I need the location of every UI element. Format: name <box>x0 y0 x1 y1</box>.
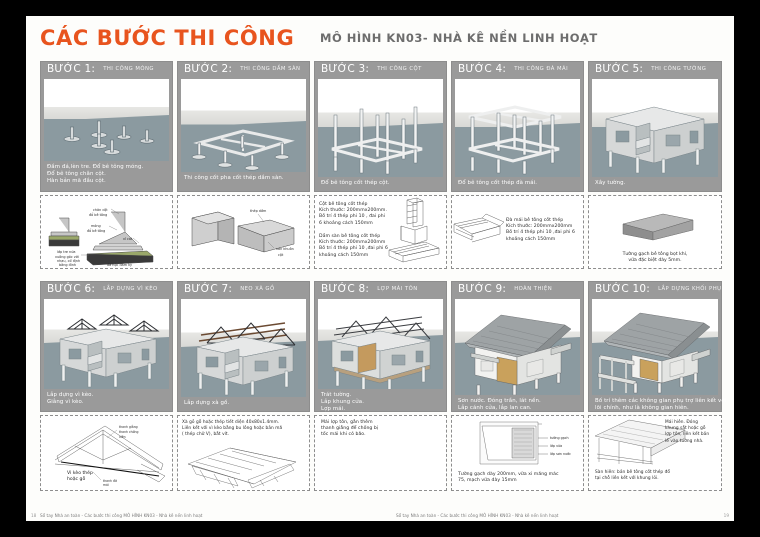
step-9-title: HOÀN THIỆN <box>514 282 552 296</box>
svg-text:chân cột: chân cột <box>93 208 108 212</box>
step-1-illustration <box>44 79 169 161</box>
step-8-caption: Trát tường. Lắp khung cửa. Lợp mái. <box>318 389 443 416</box>
step-5-illustration <box>592 79 718 177</box>
step-7-header: BƯỚC 7: NEO XÀ GỒ <box>177 281 310 296</box>
svg-text:thanh chống: thanh chống <box>119 430 138 434</box>
step-9-detail: tường gạch lớp vữa lớp sơn nước Tường gạ… <box>451 415 584 491</box>
step-panel-4[interactable]: BƯỚC 4: THI CÔNG ĐÀ MÁI <box>451 61 584 274</box>
svg-text:cột: cột <box>278 253 284 257</box>
svg-text:xiên: xiên <box>119 435 126 439</box>
footer-left: Sổ tay Nhà an toàn - Các bước thi công M… <box>40 513 202 518</box>
step-6-number: BƯỚC 6: <box>47 282 95 296</box>
step-9-caption: Sơn nước. Đóng trần, lát nền. Lắp cánh c… <box>455 395 580 414</box>
svg-text:bằng đinh: bằng đinh <box>59 262 76 267</box>
step-9-number: BƯỚC 9: <box>458 282 506 296</box>
step-panel-1[interactable]: BƯỚC 1: THI CÔNG MÓNG <box>40 61 173 274</box>
step-1-number: BƯỚC 1: <box>47 62 95 76</box>
step-5-detail: Tường gạch bê tông bọt khí, vữa đặc biệt… <box>588 195 722 269</box>
step-10-header: BƯỚC 10: LẮP DỰNG KHỐI PHỤ <box>588 281 722 296</box>
page-subtitle: MÔ HÌNH KN03- NHÀ KÊ NỀN LINH HOẠT <box>320 31 598 45</box>
step-7-caption: Lắp dựng xà gồ. <box>181 397 306 409</box>
step-4-caption: Đổ bê tông cốt thép đà mái. <box>455 177 580 189</box>
step-8-header: BƯỚC 8: LỢP MÁI TÔN <box>314 281 447 296</box>
step-10-detail-caption-b: Sàn hiên: bản bê tông cốt thép đổ tại ch… <box>595 470 670 482</box>
step-panel-7[interactable]: BƯỚC 7: NEO XÀ GỒ <box>177 281 310 503</box>
step-2-body: Thi công cốt pha cốt thép dầm sàn. <box>177 76 310 192</box>
step-6-caption: Lắp dựng vì kèo. Giằng vì kèo. <box>44 389 169 408</box>
svg-text:đá hộc đầm kỹ: đá hộc đầm kỹ <box>107 263 132 267</box>
step-9-header: BƯỚC 9: HOÀN THIỆN <box>451 281 584 296</box>
step-2-caption: Thi công cốt pha cốt thép dầm sàn. <box>181 172 306 184</box>
svg-text:ván khuôn: ván khuôn <box>276 247 294 251</box>
step-3-number: BƯỚC 3: <box>321 62 369 76</box>
step-6-detail-label-1: Vì kèo thép <box>67 469 93 476</box>
step-panel-6[interactable]: BƯỚC 6: LẮP DỰNG VÌ KÈO <box>40 281 173 503</box>
step-6-header: BƯỚC 6: LẮP DỰNG VÌ KÈO <box>40 281 173 296</box>
step-7-detail: Xà gồ gỗ hoặc thép tiết diện 40x80x1.4mm… <box>177 415 310 491</box>
step-8-detail: Mái lợp tôn, gắn thêm thanh giằng để chố… <box>314 415 447 491</box>
step-1-detail: chân cột đổ bê tông móng đổ bê tông vỉ c… <box>40 195 173 269</box>
step-4-illustration <box>455 79 580 177</box>
step-2-illustration <box>181 79 306 172</box>
step-6-title: LẮP DỰNG VÌ KÈO <box>103 282 157 296</box>
footer-right: Sổ tay Nhà an toàn - Các bước thi công M… <box>396 513 558 518</box>
svg-text:móng: móng <box>91 224 101 228</box>
step-7-body: Lắp dựng xà gồ. <box>177 296 310 412</box>
page-number-left: 18 <box>31 513 36 518</box>
step-1-caption: Đầm đá,lèn tre. Đổ bê tông móng. Đổ bê t… <box>44 161 169 188</box>
step-4-body: Đổ bê tông cốt thép đà mái. <box>451 76 584 192</box>
step-4-header: BƯỚC 4: THI CÔNG ĐÀ MÁI <box>451 61 584 76</box>
step-5-number: BƯỚC 5: <box>595 62 643 76</box>
step-1-body: Đầm đá,lèn tre. Đổ bê tông móng. Đổ bê t… <box>40 76 173 192</box>
step-1-header: BƯỚC 1: THI CÔNG MÓNG <box>40 61 173 76</box>
svg-text:tường gạch: tường gạch <box>550 436 569 440</box>
svg-text:thép dầm: thép dầm <box>250 209 267 213</box>
step-7-number: BƯỚC 7: <box>184 282 232 296</box>
svg-text:thanh giằng: thanh giằng <box>119 424 138 429</box>
step-3-illustration <box>318 79 443 177</box>
page-number-right: 19 <box>724 513 729 518</box>
step-6-illustration <box>44 299 169 389</box>
step-8-title: LỢP MÁI TÔN <box>377 282 417 296</box>
step-panel-5[interactable]: BƯỚC 5: THI CÔNG TƯỜNG <box>588 61 722 274</box>
svg-text:mái: mái <box>103 483 109 487</box>
page-background: CÁC BƯỚC THI CÔNG MÔ HÌNH KN03- NHÀ KÊ N… <box>0 0 760 537</box>
step-7-detail-text: Xà gồ gỗ hoặc thép tiết diện 40x80x1.4mm… <box>182 420 282 439</box>
page-title: CÁC BƯỚC THI CÔNG <box>40 26 294 50</box>
svg-text:vỉ cát: vỉ cát <box>123 237 133 241</box>
svg-text:lớp sơn nước: lớp sơn nước <box>550 452 571 456</box>
step-10-detail-caption-a: Mái hiên. Đóng khung sắt hoặc gỗ lợp tôn… <box>665 420 709 445</box>
svg-text:lớp vữa: lớp vữa <box>550 444 562 448</box>
step-5-header: BƯỚC 5: THI CÔNG TƯỜNG <box>588 61 722 76</box>
step-5-caption: Xây tường. <box>592 177 718 189</box>
step-2-header: BƯỚC 2: THI CÔNG DẦM SÀN <box>177 61 310 76</box>
step-9-body: Sơn nước. Đóng trần, lát nền. Lắp cánh c… <box>451 296 584 412</box>
step-1-title: THI CÔNG MÓNG <box>103 62 154 76</box>
step-10-caption: Bố trí thêm các không gian phụ trợ liên … <box>592 395 718 414</box>
step-8-number: BƯỚC 8: <box>321 282 369 296</box>
step-4-number: BƯỚC 4: <box>458 62 506 76</box>
steps-row-top: BƯỚC 1: THI CÔNG MÓNG <box>40 61 722 274</box>
step-10-detail: Mái hiên. Đóng khung sắt hoặc gỗ lợp tôn… <box>588 415 722 491</box>
step-8-illustration <box>318 299 443 389</box>
poster-header: CÁC BƯỚC THI CÔNG MÔ HÌNH KN03- NHÀ KÊ N… <box>40 24 720 58</box>
step-10-title: LẮP DỰNG KHỐI PHỤ <box>658 282 721 296</box>
step-panel-3[interactable]: BƯỚC 3: THI CÔNG CỘT <box>314 61 447 274</box>
step-4-detail: Đà mái bê tông cốt thép Kích thước: 200m… <box>451 195 584 269</box>
step-panel-8[interactable]: BƯỚC 8: LỢP MÁI TÔN <box>314 281 447 503</box>
step-2-title: THI CÔNG DẦM SÀN <box>240 62 300 76</box>
steps-row-bottom: BƯỚC 6: LẮP DỰNG VÌ KÈO <box>40 281 722 503</box>
step-8-body: Trát tường. Lắp khung cửa. Lợp mái. <box>314 296 447 412</box>
step-panel-2[interactable]: BƯỚC 2: THI CÔNG DẦM SÀN <box>177 61 310 274</box>
step-6-detail: thanh giằng thanh chống xiên thanh đỡ má… <box>40 415 173 491</box>
step-2-detail: thép dầm ván khuôn cột <box>177 195 310 269</box>
step-10-illustration <box>592 299 718 395</box>
step-5-body: Xây tường. <box>588 76 722 192</box>
step-10-number: BƯỚC 10: <box>595 282 650 296</box>
step-3-caption: Đổ bê tông cốt thép cột. <box>318 177 443 189</box>
step-3-header: BƯỚC 3: THI CÔNG CỘT <box>314 61 447 76</box>
step-6-body: Lắp dựng vì kèo. Giằng vì kèo. <box>40 296 173 412</box>
step-4-title: THI CÔNG ĐÀ MÁI <box>514 62 568 76</box>
poster-sheet: CÁC BƯỚC THI CÔNG MÔ HÌNH KN03- NHÀ KÊ N… <box>26 16 734 521</box>
step-panel-9[interactable]: BƯỚC 9: HOÀN THIỆN <box>451 281 584 503</box>
step-9-illustration <box>455 299 580 395</box>
step-7-title: NEO XÀ GỒ <box>240 282 274 296</box>
svg-text:đổ bê tông: đổ bê tông <box>87 228 105 233</box>
step-9-detail-caption: Tường gạch dày 200mm, vữa xi măng mác 75… <box>458 472 559 484</box>
step-5-title: THI CÔNG TƯỜNG <box>651 62 706 76</box>
step-3-title: THI CÔNG CỘT <box>377 62 422 76</box>
step-10-body: Bố trí thêm các không gian phụ trợ liên … <box>588 296 722 412</box>
step-7-illustration <box>181 299 306 397</box>
step-panel-10[interactable]: BƯỚC 10: LẮP DỰNG KHỐI PHỤ <box>588 281 722 503</box>
step-3-body: Đổ bê tông cốt thép cột. <box>314 76 447 192</box>
svg-text:đổ bê tông: đổ bê tông <box>89 212 107 217</box>
svg-text:lớp tre nứa: lớp tre nứa <box>57 250 75 254</box>
step-5-detail-caption: Tường gạch bê tông bọt khí, vữa đặc biệt… <box>589 252 721 264</box>
step-2-number: BƯỚC 2: <box>184 62 232 76</box>
step-8-detail-text: Mái lợp tôn, gắn thêm thanh giằng để chố… <box>321 420 378 439</box>
step-6-detail-label-2: hoặc gỗ <box>67 475 85 482</box>
step-3-detail: Cột bê tông cốt thép Kích thước: 200mmx2… <box>314 195 447 269</box>
